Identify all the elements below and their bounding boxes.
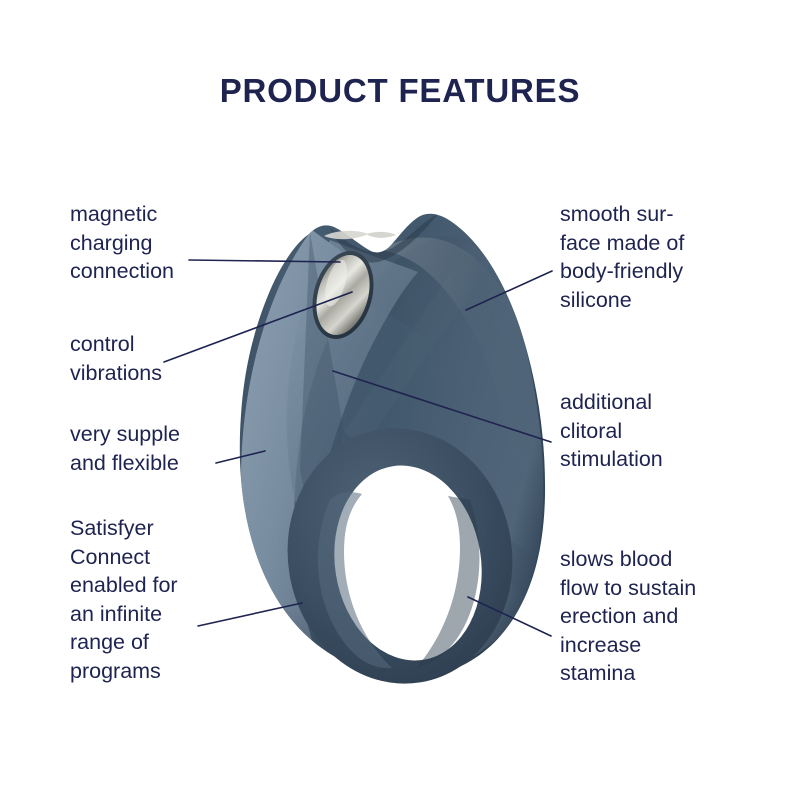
product-features-infographic: PRODUCT FEATURES magnetic charging conne… (0, 0, 800, 800)
callout-label-additional-clitoral-stimulation: additional clitoral stimulation (560, 388, 663, 474)
leader-line-satisfyer-connect-programs (198, 603, 302, 626)
callout-label-very-supple-and-flexible: very supple and flexible (70, 420, 180, 477)
callout-label-slows-blood-flow: slows blood flow to sustain erection and… (560, 545, 696, 688)
page-title: PRODUCT FEATURES (0, 72, 800, 110)
callout-label-satisfyer-connect-programs: Satisfyer Connect enabled for an infinit… (70, 514, 178, 685)
callout-label-smooth-surface-silicone: smooth sur- face made of body-friendly s… (560, 200, 684, 314)
callout-label-control-vibrations: control vibrations (70, 330, 162, 387)
callout-label-magnetic-charging-connection: magnetic charging connection (70, 200, 174, 286)
